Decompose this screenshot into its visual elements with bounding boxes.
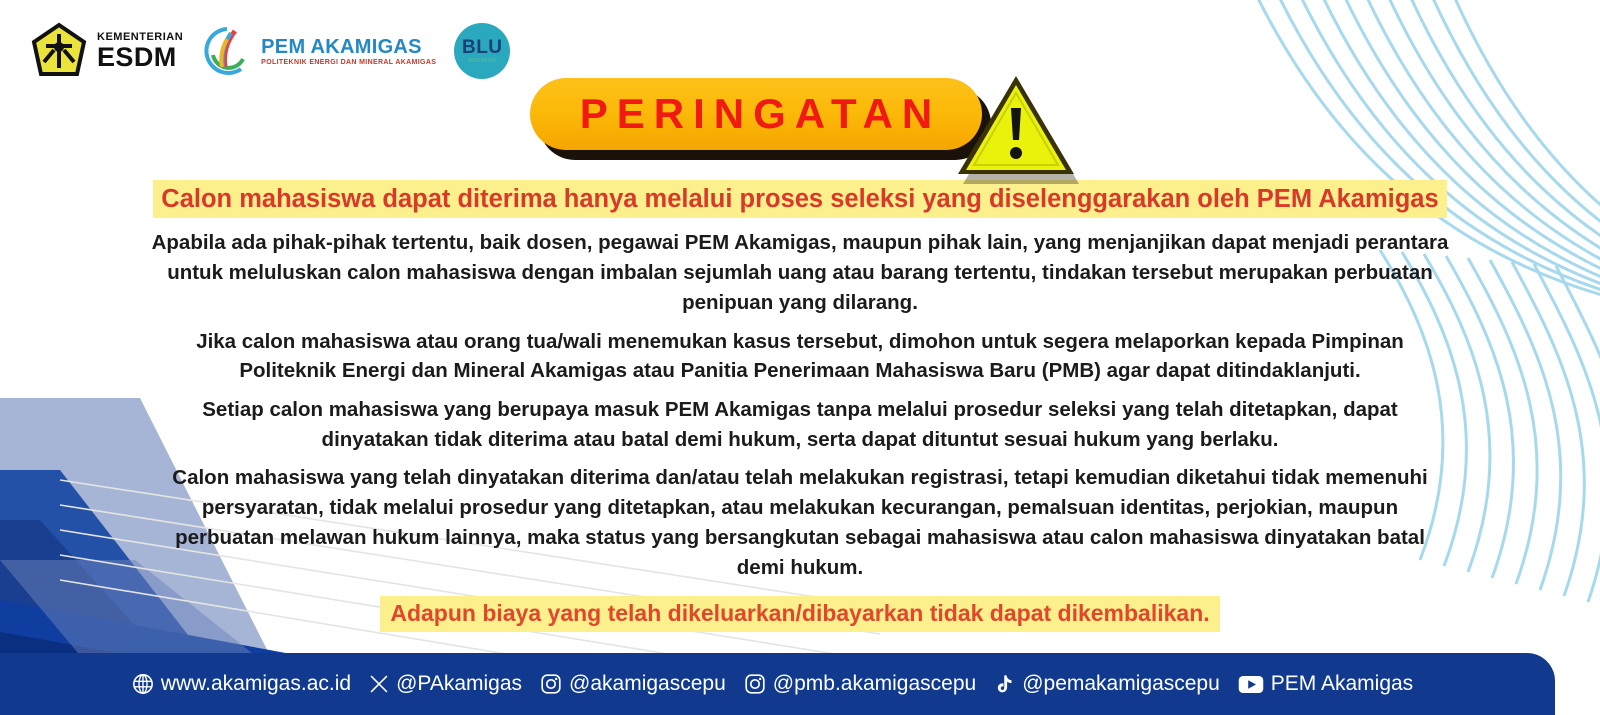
blu-logo: BLU INDONESIA [454,23,510,79]
banner-pill: PERINGATAN [530,78,982,150]
footer-label-youtube: PEM Akamigas [1271,672,1413,696]
x-twitter-icon [369,674,389,694]
paragraph-4: Calon mahasiswa yang telah dinyatakan di… [150,454,1450,582]
banner-title: PERINGATAN [571,93,941,135]
blu-name-label: BLU [462,38,503,57]
footer-item-x[interactable]: @PAkamigas [369,672,522,696]
footnote-wrapper: Adapun biaya yang telah dikeluarkan/diba… [0,596,1600,632]
footer-item-instagram-1[interactable]: @akamigascepu [540,672,726,696]
footnote-text: Adapun biaya yang telah dikeluarkan/diba… [380,596,1219,632]
footer-item-tiktok[interactable]: @pemakamigascepu [994,672,1220,696]
esdm-kementerian-label: KEMENTERIAN [97,32,183,43]
footer-label-website: www.akamigas.ac.id [161,672,351,696]
pem-flame-circle-icon [201,25,253,77]
globe-icon [132,673,154,695]
kementerian-esdm-logo: KEMENTERIAN ESDM [30,22,183,80]
esdm-emblem-icon [30,22,88,80]
warning-poster: KEMENTERIAN ESDM PEM AKAMIGAS POLITEKNIK… [0,0,1600,715]
esdm-name-label: ESDM [97,44,183,71]
instagram-icon [540,673,562,695]
footer-item-youtube[interactable]: PEM Akamigas [1238,672,1413,696]
youtube-icon [1238,675,1264,694]
footer-bar: www.akamigas.ac.id @PAkamigas @akamigasc… [0,653,1555,715]
tiktok-icon [994,673,1015,695]
headline-text: Calon mahasiswa dapat diterima hanya mel… [153,180,1446,218]
footer-item-instagram-2[interactable]: @pmb.akamigascepu [744,672,976,696]
warning-banner: PERINGATAN [530,78,1090,178]
blu-sub-label: INDONESIA [467,58,497,64]
pem-akamigas-logo: PEM AKAMIGAS POLITEKNIK ENERGI DAN MINER… [201,25,436,77]
paragraph-3: Setiap calon mahasiswa yang berupaya mas… [150,386,1450,454]
footer-label-x: @PAkamigas [396,672,522,696]
paragraph-1: Apabila ada pihak-pihak tertentu, baik d… [150,226,1450,317]
pem-name-label: PEM AKAMIGAS [261,37,436,57]
footer-label-instagram-2: @pmb.akamigascepu [773,672,976,696]
instagram-icon [744,673,766,695]
logo-row: KEMENTERIAN ESDM PEM AKAMIGAS POLITEKNIK… [30,22,510,80]
footer-item-website[interactable]: www.akamigas.ac.id [132,672,351,696]
footer-label-instagram-1: @akamigascepu [569,672,726,696]
footer-label-tiktok: @pemakamigascepu [1022,672,1220,696]
pem-tagline-label: POLITEKNIK ENERGI DAN MINERAL AKAMIGAS [261,59,436,66]
poster-body: Calon mahasiswa dapat diterima hanya mel… [0,180,1600,632]
paragraph-2: Jika calon mahasiswa atau orang tua/wali… [150,318,1450,386]
warning-triangle-icon [950,66,1080,186]
